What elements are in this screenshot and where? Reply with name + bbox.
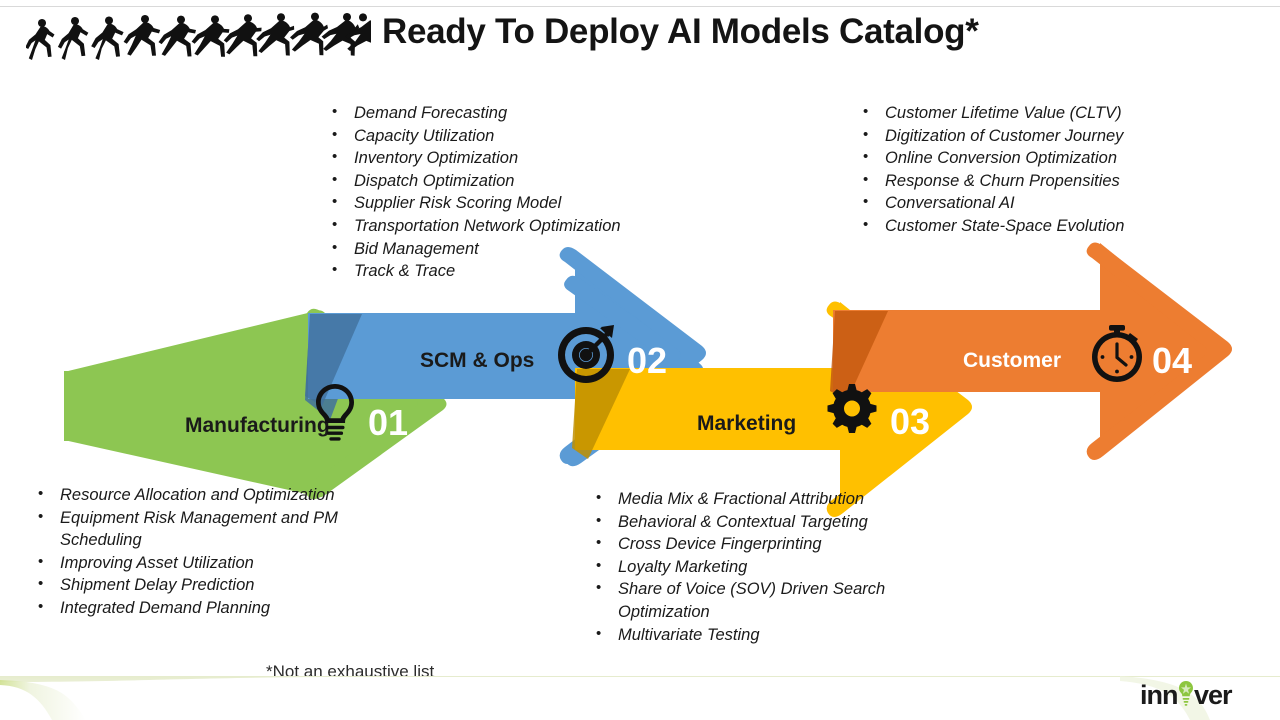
innover-logo: inn ver (1138, 678, 1262, 712)
list-item: Media Mix & Fractional Attribution (593, 488, 923, 511)
innover-logo-text-2: ver (1194, 680, 1233, 710)
list-item: Demand Forecasting (329, 102, 729, 125)
stage-number-03: 03 (890, 401, 930, 442)
list-item: Online Conversion Optimization (860, 147, 1160, 170)
list-item: Improving Asset Utilization (35, 552, 355, 575)
stage-label-04: Customer (963, 349, 1061, 372)
list-item: Behavioral & Contextual Targeting (593, 511, 923, 534)
stage-label-02: SCM & Ops (420, 349, 534, 372)
list-item: Digitization of Customer Journey (860, 125, 1160, 148)
list-item: Track & Trace (329, 260, 729, 283)
slide-canvas: Ready To Deploy AI Models Catalog* (0, 0, 1280, 720)
list-item: Dispatch Optimization (329, 170, 729, 193)
stage-number-01: 01 (368, 402, 408, 443)
list-item: Response & Churn Propensities (860, 170, 1160, 193)
stage-number-04: 04 (1152, 340, 1192, 381)
list-item: Cross Device Fingerprinting (593, 533, 923, 556)
bullet-list-customer: Customer Lifetime Value (CLTV) Digitizat… (860, 102, 1160, 238)
innover-logo-text: inn (1140, 680, 1178, 710)
list-item: Shipment Delay Prediction (35, 574, 355, 597)
list-item: Loyalty Marketing (593, 556, 923, 579)
list-item: Customer Lifetime Value (CLTV) (860, 102, 1160, 125)
list-item: Customer State-Space Evolution (860, 215, 1160, 238)
list-item: Bid Management (329, 238, 729, 261)
bullet-list-scm-ops: Demand Forecasting Capacity Utilization … (329, 102, 729, 283)
footer-swoosh (0, 676, 1280, 720)
lightbulb-icon (1179, 681, 1193, 706)
list-item: Supplier Risk Scoring Model (329, 192, 729, 215)
stage-number-02: 02 (627, 340, 667, 381)
bullet-list-marketing: Media Mix & Fractional Attribution Behav… (593, 488, 923, 646)
list-item: Multivariate Testing (593, 624, 923, 647)
list-item: Resource Allocation and Optimization (35, 484, 355, 507)
list-item: Equipment Risk Management and PM Schedul… (35, 507, 355, 552)
bullet-list-manufacturing: Resource Allocation and Optimization Equ… (35, 484, 355, 620)
list-item: Conversational AI (860, 192, 1160, 215)
list-item: Transportation Network Optimization (329, 215, 729, 238)
stage-label-01: Manufacturing (185, 414, 330, 437)
list-item: Integrated Demand Planning (35, 597, 355, 620)
list-item: Capacity Utilization (329, 125, 729, 148)
list-item: Share of Voice (SOV) Driven Search Optim… (593, 578, 923, 623)
list-item: Inventory Optimization (329, 147, 729, 170)
stage-label-03: Marketing (697, 412, 796, 435)
